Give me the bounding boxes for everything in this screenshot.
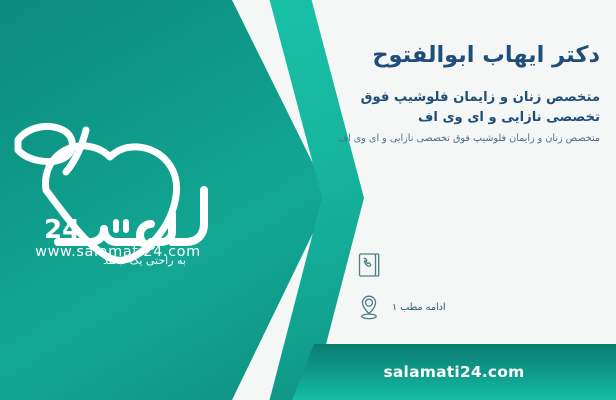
contact-label-location: ادامه مطب ۱ bbox=[392, 302, 446, 313]
location-pin-icon bbox=[354, 291, 384, 323]
logo-website-url: www.salamati24.com bbox=[0, 244, 236, 260]
contact-row-phone[interactable] bbox=[354, 248, 604, 282]
apple-leaf-icon bbox=[18, 126, 72, 161]
contact-row-location[interactable]: ادامه مطب ۱ bbox=[354, 290, 604, 324]
svg-text:24: 24 bbox=[44, 215, 80, 245]
footer-bar[interactable]: salamati24.com bbox=[292, 344, 616, 400]
phone-book-icon bbox=[354, 249, 384, 281]
profile-content: دکتر ایهاب ابوالفتوح متخصص زنان و زایمان… bbox=[330, 0, 616, 400]
contact-block: ادامه مطب ۱ bbox=[354, 248, 604, 332]
specialty-subtext: متخصص زنان و زایمان فلوشیپ فوق تخصصی ناز… bbox=[336, 131, 600, 146]
doctor-name: دکتر ایهاب ابوالفتوح bbox=[336, 40, 600, 70]
logo-24-badge: 24 bbox=[44, 215, 80, 245]
footer-website: salamati24.com bbox=[383, 363, 524, 381]
specialty-headline: متخصص زنان و زایمان فلوشیپ فوق تخصصی ناز… bbox=[336, 88, 600, 128]
doctor-profile-card: 24 به راحتی یک لبخند www.salamati24.com … bbox=[0, 0, 616, 400]
